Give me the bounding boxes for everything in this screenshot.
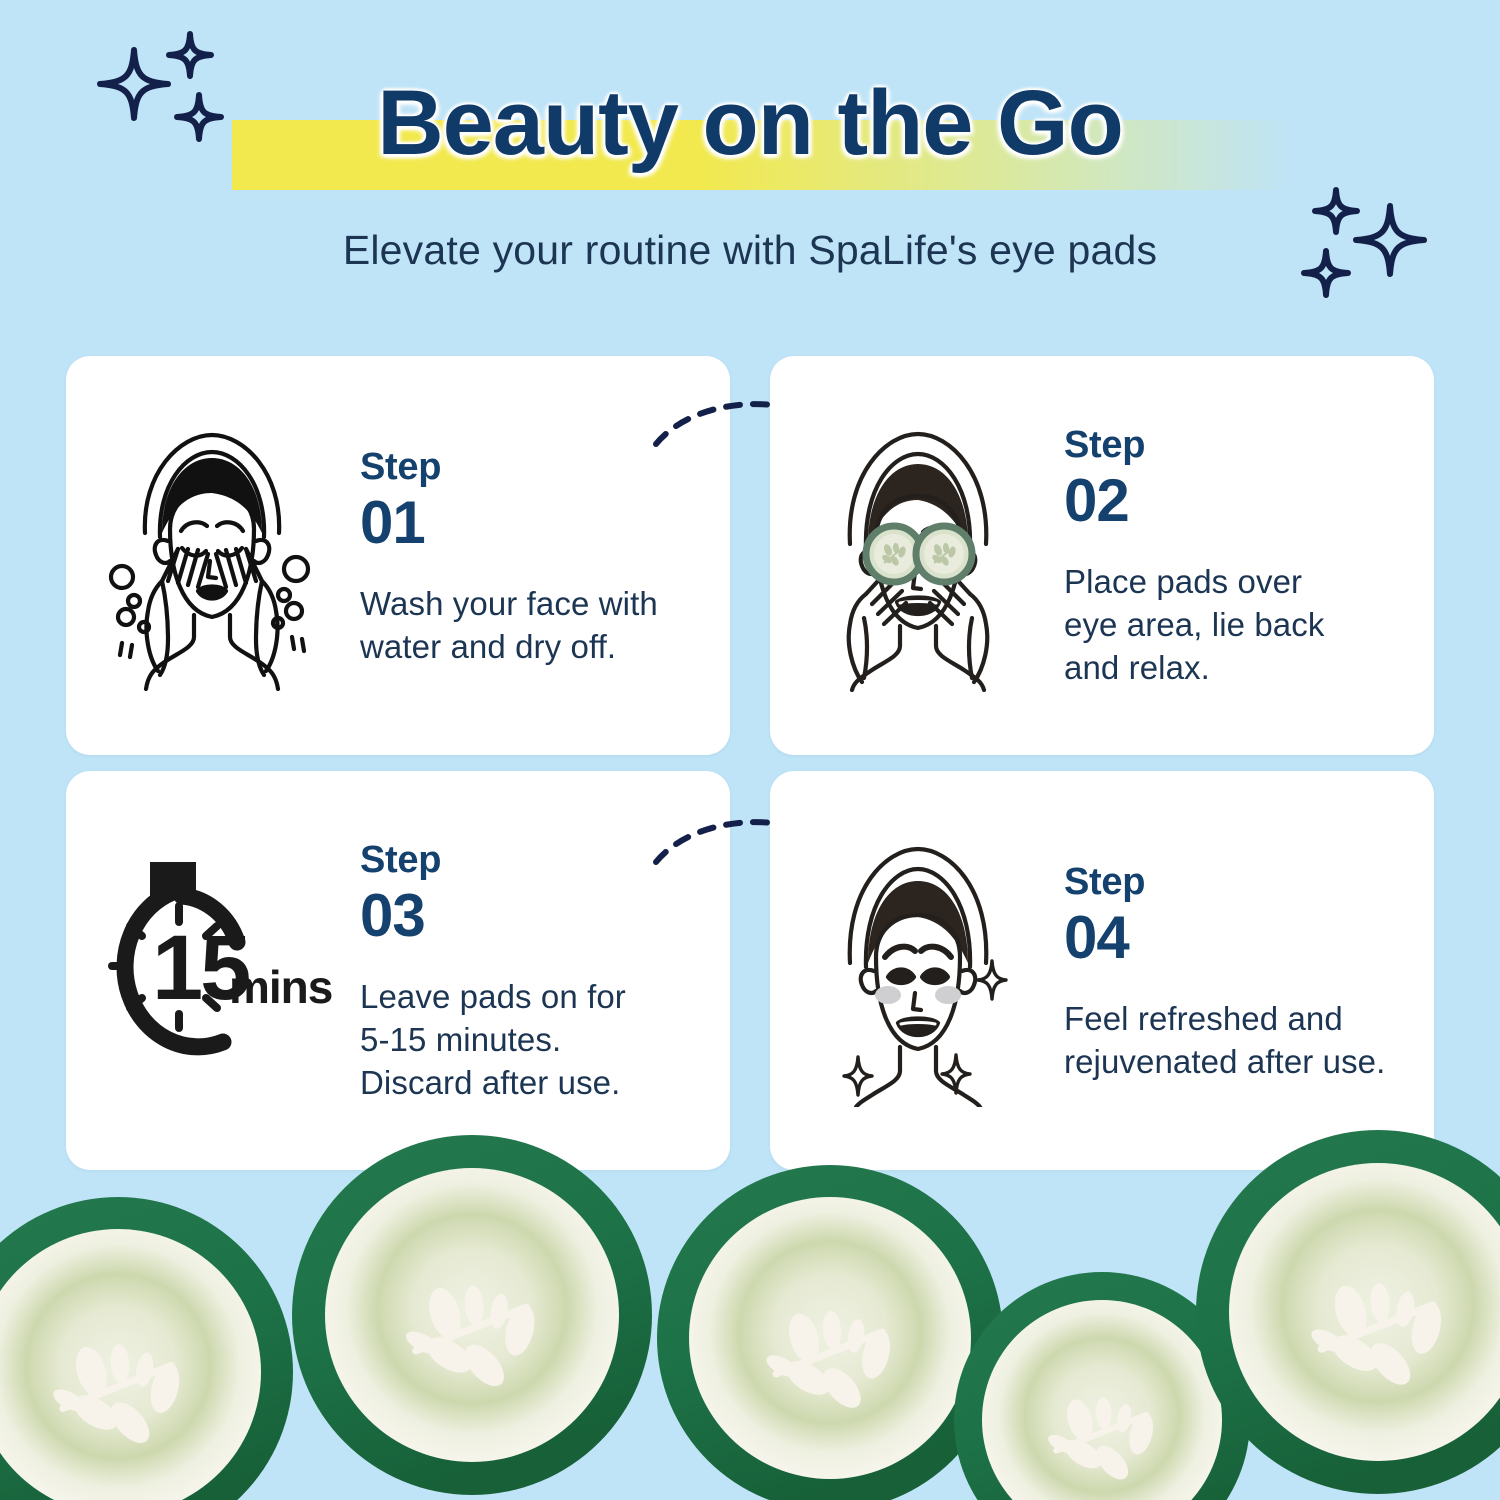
step-number: 03: [360, 883, 704, 949]
washing-face-icon: [66, 356, 356, 755]
page-title: Beauty on the Go: [0, 62, 1500, 184]
cucumber-slice-pad: [657, 1165, 1003, 1500]
infographic-canvas: Beauty on the Go Elevate your routine wi…: [0, 0, 1500, 1500]
step-number: 01: [360, 490, 704, 556]
step-description: Leave pads on for 5-15 minutes. Discard …: [360, 975, 704, 1104]
face-with-eye-pads-icon: [770, 356, 1060, 755]
step-number: 02: [1064, 468, 1408, 534]
cucumber-slice-row: [0, 1100, 1500, 1500]
header: Beauty on the Go Elevate your routine wi…: [0, 0, 1500, 192]
page-subtitle: Elevate your routine with SpaLife's eye …: [0, 224, 1500, 276]
step-number: 04: [1064, 905, 1408, 971]
cucumber-slice-pad: [292, 1135, 652, 1495]
step-label: Step: [1064, 859, 1408, 905]
cucumber-slice-pad: [0, 1197, 293, 1500]
title-wrapper: Beauty on the Go: [0, 62, 1500, 192]
step-description: Wash your face with water and dry off.: [360, 582, 704, 668]
step-card-01[interactable]: Step 01 Wash your face with water and dr…: [66, 356, 730, 755]
step-description: Feel refreshed and rejuvenated after use…: [1064, 997, 1408, 1083]
svg-text:mins: mins: [229, 961, 332, 1013]
step-card-02[interactable]: Step 02 Place pads over eye area, lie ba…: [770, 356, 1434, 755]
step-description: Place pads over eye area, lie back and r…: [1064, 560, 1408, 689]
step-label: Step: [1064, 422, 1408, 468]
